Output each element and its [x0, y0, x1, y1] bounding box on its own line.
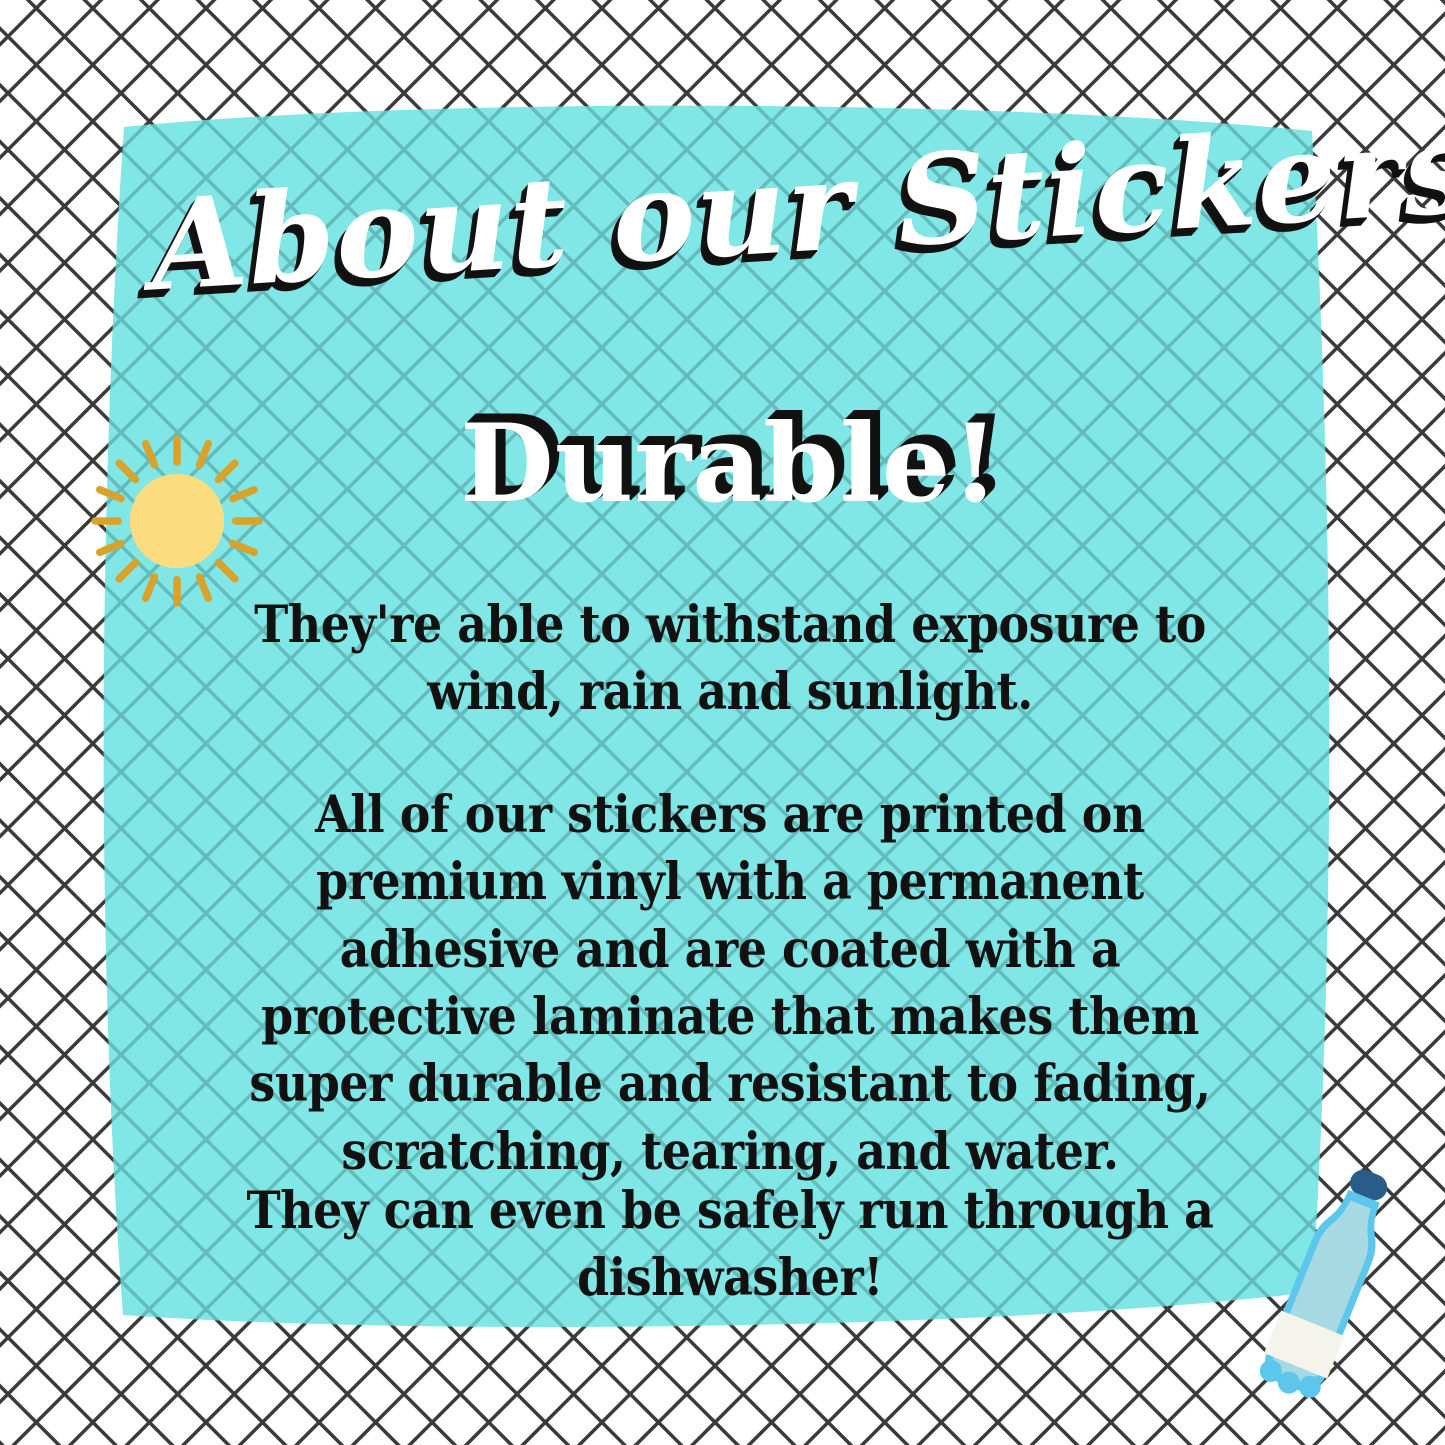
paragraph-dishwasher: They can even be safely run through a di… — [235, 1178, 1225, 1313]
page-title: About our Stickers — [147, 116, 1312, 311]
paragraph-materials: All of our stickers are printed on premi… — [235, 782, 1225, 1186]
paragraph-durability: They're able to withstand exposure to wi… — [235, 592, 1225, 727]
sticker-info-card-page: About our Stickers Durable! — [0, 0, 1445, 1445]
sun-icon — [88, 432, 266, 610]
section-heading-durable: Durable! — [200, 410, 1260, 518]
water-bottle-icon — [1248, 1158, 1408, 1408]
